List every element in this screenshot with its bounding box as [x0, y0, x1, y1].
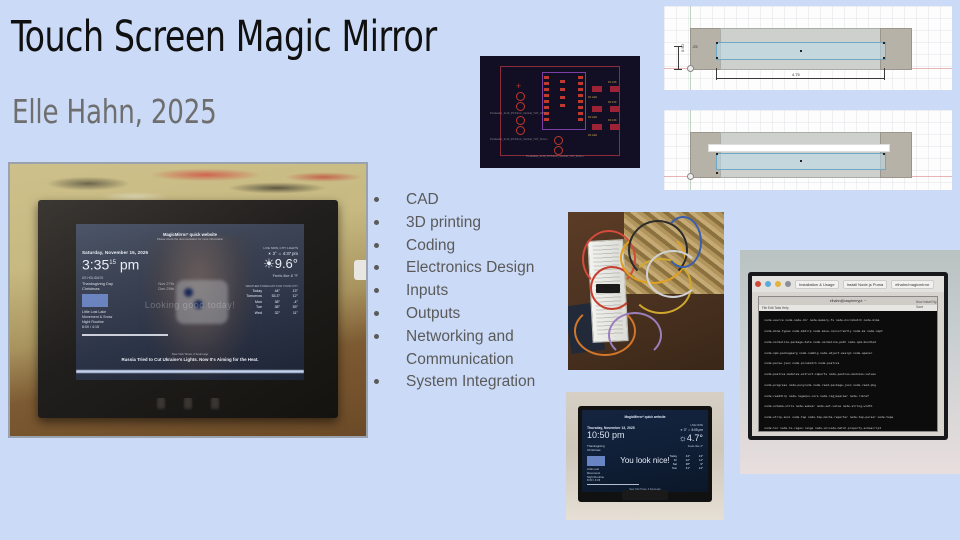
cad-sketch-point — [800, 50, 802, 52]
pcb-pad — [578, 76, 583, 79]
mm-task-list: Little Lost Movement Night Routine 8:00 … — [587, 468, 631, 483]
raspberry-pi-terminal-photo: Installation & Usage Install Node.js Pum… — [740, 250, 960, 474]
mm-clock: 3:3515 pm — [82, 256, 139, 272]
raspberry-menu-icon[interactable] — [755, 281, 761, 287]
pcb-pad — [578, 88, 583, 91]
pcb-led — [610, 106, 620, 112]
mm-clock-meridiem: pm — [612, 430, 625, 440]
mm-divider — [587, 484, 639, 485]
pcb-pad — [544, 76, 549, 79]
mm-calendar-header: US HOLIDAYS — [82, 276, 103, 280]
mm-forecast: Today44°13° Fri42°11° Sat38°9° Sun41°14° — [664, 454, 703, 470]
list-item: 8:00 / 4:15 — [82, 325, 152, 330]
bullet-dot-icon — [374, 197, 379, 202]
pcb-via — [516, 92, 525, 101]
monitor-stand — [622, 490, 668, 500]
magic-mirror-monitor-photo: MagicMirror² quick website Thursday, Nov… — [566, 392, 724, 520]
mm-weather-city: LIVE NOW — [690, 424, 703, 427]
monitor-screen: MagicMirror² quick website Thursday, Nov… — [582, 410, 708, 492]
mm-forecast-header: WEATHER FORECAST FOR YOUR CITY — [246, 284, 298, 288]
pcb-pad — [578, 94, 583, 97]
terminal-line: node-schema-utils node-semver node-set-v… — [761, 405, 935, 409]
list-item: 8:00 / 4:15 — [587, 479, 631, 483]
cad-sketch-point — [800, 160, 802, 162]
monitor-bezel: MagicMirror² quick website Thursday, Nov… — [578, 406, 712, 502]
bullet-label: Outputs — [406, 303, 574, 326]
screen-glare — [76, 370, 304, 373]
mm-weather-city: LIVE NOW, CITY LIGHTS — [263, 246, 298, 250]
terminal-icon[interactable] — [785, 281, 791, 287]
mm-divider — [82, 334, 168, 336]
browser-side-panel: Now install Ng Save — [916, 300, 942, 432]
mm-clock-time: 3:35 — [82, 257, 109, 273]
cad-extension-line — [884, 68, 885, 80]
mm-temperature: ☀9.6° — [263, 257, 298, 271]
jumper-wire-blue — [664, 216, 702, 268]
mm-calendar-row: Christmas — [587, 448, 639, 452]
cad-sketch-point — [883, 153, 885, 155]
list-item: CAD — [374, 189, 574, 212]
bullet-label: Coding — [406, 235, 574, 258]
terminal-line: node-readdirp node-regenpu-core node-reg… — [761, 395, 935, 399]
pcb-silkscreen-label: PinHeader_2x10_P2.54mm_Vertical_THT_3Con… — [526, 155, 583, 158]
presentation-slide: Touch Screen Magic Mirror Elle Hahn, 202… — [0, 0, 960, 540]
bullet-label: Inputs — [406, 280, 574, 303]
mirror-button-row — [157, 398, 220, 412]
mirror-button — [184, 398, 193, 412]
power-plug — [354, 260, 368, 280]
bullet-dot-icon — [374, 220, 379, 225]
pcb-part-label: R3 10K — [608, 119, 617, 122]
bullet-label: System Integration — [406, 371, 574, 394]
mm-forecast: Today44°13° Tomorrow53.3°12° Mon38°-4° T… — [243, 289, 298, 316]
bullet-label: Networking and Communication — [406, 326, 574, 372]
terminal-line: node-mime-types node-mkdirp node-move-co… — [761, 330, 935, 334]
mm-feels-like: Feels like 2° — [688, 444, 703, 448]
mm-clock-seconds: 15 — [109, 260, 116, 266]
mm-temperature: ☼4.7° — [679, 433, 703, 443]
pcb-part-label: D3 LED — [588, 134, 597, 137]
mm-feels-like: Feels like 8 °F — [273, 273, 298, 278]
pcb-via — [554, 146, 563, 155]
list-item: Inputs — [374, 280, 574, 303]
folder-icon[interactable] — [775, 281, 781, 287]
globe-icon[interactable] — [765, 281, 771, 287]
mm-temperature-value: 9.6° — [275, 256, 298, 271]
bullet-dot-icon — [374, 311, 379, 316]
mm-calendar: Thanksgiving DayNov 27th ChristmasDec 25… — [82, 281, 174, 291]
cad-white-panel — [708, 144, 890, 152]
mirror-button — [211, 398, 220, 412]
terminal-output: node-source node-node-dir node-memory-fs… — [759, 311, 937, 436]
pcb-silkscreen-label: PinHeader_2x10_P2.54mm_Vertical_THT_2Con… — [490, 138, 547, 141]
cad-dimension-value: .25 — [692, 44, 698, 49]
mm-clock-time: 10:50 — [587, 430, 610, 440]
pcb-pad — [560, 88, 565, 91]
terminal-line: node-postcss-modules-extract-imports nod… — [761, 373, 935, 377]
cad-sketch-point — [716, 57, 718, 59]
mm-news-source: New York Times, 2 hours ago — [76, 352, 304, 356]
mm-calendar: Thanksgiving Christmas — [587, 444, 639, 452]
mm-forecast-low: 11° — [283, 311, 298, 316]
pcb-pad — [544, 82, 549, 85]
terminal-line: node-tar node-to-regex-range node-unicod… — [761, 427, 935, 431]
pcb-silkscreen-label: PinHeader_2x10_P2.54mm_Vertical_THT_10Pi… — [490, 112, 546, 115]
terminal-line: node-normalize-package-data node-normali… — [761, 341, 935, 345]
install-button[interactable]: Save — [916, 305, 942, 310]
bullet-dot-icon — [374, 334, 379, 339]
bullet-dot-icon — [374, 288, 379, 293]
cad-dimension-value: 0.50 — [680, 44, 685, 52]
mm-forecast-day: Sun — [666, 466, 677, 470]
terminal-line: node-strip-ansi node-tap node-tap-mocha-… — [761, 416, 935, 420]
list-item: Networking and Communication — [374, 326, 574, 372]
magic-mirror-assembled-photo: MagicMirror² quick website Please check … — [8, 162, 368, 438]
fusion360-sketch-front-view: 4.75 0.50 .25 — [664, 6, 952, 90]
fusion360-sketch-section-view — [664, 110, 952, 190]
cad-dimension-line — [674, 69, 682, 70]
mm-sunset: 5:05 pm — [691, 428, 703, 432]
mm-sunrise: 3° — [684, 428, 687, 432]
pcb-pad — [544, 118, 549, 121]
mm-module-header: MagicMirror² quick website — [582, 415, 708, 419]
list-item: Coding — [374, 235, 574, 258]
pcb-resistor — [592, 124, 602, 130]
cad-sketch-point — [716, 42, 718, 44]
pcb-pad — [544, 88, 549, 91]
list-item: 3D printing — [374, 212, 574, 235]
breadboard-wiring-photo — [568, 212, 724, 370]
mm-clock-meridiem: pm — [120, 257, 139, 273]
cad-sketch-point — [883, 57, 885, 59]
terminal-line: node-progress node-punycode node-read-pa… — [761, 384, 935, 388]
pcb-via — [516, 102, 525, 111]
mirror-wooden-frame: MagicMirror² quick website Please check … — [38, 200, 338, 418]
mm-temperature-value: 4.7° — [687, 433, 703, 443]
pcb-pad — [578, 118, 583, 121]
terminal-line: node-parse-json node-picomatch node-post… — [761, 362, 935, 366]
terminal-window[interactable]: elhahn@raspberrypi: ~ File Edit Tabs Hel… — [758, 296, 938, 432]
mm-task-list: Little Lost Lake Movement & Snow Night R… — [82, 310, 152, 330]
camera-lens-icon — [184, 288, 193, 297]
bullet-label: CAD — [406, 189, 574, 212]
pcb-pad — [578, 82, 583, 85]
mm-calendar-when: Dec 25th — [158, 286, 174, 291]
browser-tab-bar[interactable]: Installation & Usage Install Node.js Pum… — [752, 276, 944, 292]
laptop-screen: Installation & Usage Install Node.js Pum… — [752, 276, 944, 436]
bullet-dot-icon — [374, 265, 379, 270]
mm-calendar-row: ChristmasDec 25th — [82, 286, 174, 291]
bullet-dot-icon — [374, 243, 379, 248]
bullet-label: 3D printing — [406, 212, 574, 235]
pcb-pad — [544, 100, 549, 103]
kicad-pcb-layout: + PinHeader_2x10_P2.54mm_Vertica — [480, 56, 640, 168]
mm-forecast-row: Wed32°11° — [243, 311, 298, 316]
pcb-resistor — [592, 106, 602, 112]
mm-sun-times: ☀ 3° ☼ 5:05 pm — [680, 428, 703, 432]
cad-dimension-value: 4.75 — [792, 72, 800, 77]
pcb-led — [610, 86, 620, 92]
pcb-led — [610, 124, 620, 130]
mm-forecast-low: 14° — [692, 466, 703, 470]
pcb-pad — [560, 96, 565, 99]
pcb-pad — [560, 104, 565, 107]
cad-origin-point — [687, 65, 694, 72]
terminal-line: node-source node-node-dir node-memory-fs… — [761, 319, 935, 323]
pcb-resistor — [592, 86, 602, 92]
cad-extension-line — [716, 68, 717, 80]
terminal-title-bar: elhahn@raspberrypi: ~ — [759, 297, 937, 305]
browser-tab[interactable]: Installation & Usage — [795, 280, 839, 289]
pcb-part-label: D2 LED — [588, 116, 597, 119]
mm-forecast-high: 41° — [679, 466, 690, 470]
pcb-pad — [544, 106, 549, 109]
browser-tab[interactable]: Install Node.js Puma — [843, 280, 888, 289]
mm-forecast-row: Sun41°14° — [664, 466, 703, 470]
mm-forecast-day: Wed — [247, 311, 262, 316]
mm-date: Saturday, November 15, 2025 — [82, 250, 148, 255]
pcb-part-label: R2 10K — [608, 101, 617, 104]
pcb-pad — [578, 100, 583, 103]
jumper-wire-purple — [608, 312, 662, 358]
pcb-part-label: D1 LED — [588, 96, 597, 99]
cad-sketch-point — [716, 172, 718, 174]
mm-news-headline: Russia Tried to Cut Ukraine's Lights. No… — [76, 357, 304, 362]
cad-sketch-point — [883, 42, 885, 44]
pcb-via — [516, 116, 525, 125]
mm-module-subheader: Please check the documentation for more … — [76, 237, 304, 241]
pcb-pad — [578, 106, 583, 109]
pcb-via — [516, 126, 525, 135]
pcb-origin-marker: + — [516, 82, 521, 91]
mirror-display-screen: MagicMirror² quick website Please check … — [76, 224, 304, 380]
cad-origin-point — [687, 173, 694, 180]
laptop-bezel: Installation & Usage Install Node.js Pum… — [748, 272, 948, 440]
bullet-dot-icon — [374, 379, 379, 384]
pcb-pad — [544, 94, 549, 97]
cad-extension-line — [678, 46, 679, 70]
pcb-via — [554, 136, 563, 145]
pcb-pad — [578, 112, 583, 115]
mm-calendar-event: Christmas — [82, 286, 100, 291]
mm-forecast-high: 32° — [265, 311, 280, 316]
pcb-part-label: R1 10K — [608, 81, 617, 84]
terminal-line: node-npm-packagearg node-numbig node-obj… — [761, 352, 935, 356]
browser-tab[interactable]: elhahn/magicmirror — [891, 280, 933, 289]
feature-bullet-list: CAD 3D printing Coding Electronics Desig… — [374, 189, 574, 394]
list-item: Electronics Design — [374, 257, 574, 280]
pcb-pad — [560, 80, 565, 83]
slide-subtitle: Elle Hahn, 2025 — [12, 92, 217, 132]
slide-title: Touch Screen Magic Mirror — [11, 12, 437, 62]
bullet-label: Electronics Design — [406, 257, 574, 280]
list-item: Outputs — [374, 303, 574, 326]
cad-dimension-line — [716, 78, 884, 79]
mm-clock: 10:50 pm — [587, 430, 625, 440]
list-item: System Integration — [374, 371, 574, 394]
cad-sketch-point — [716, 153, 718, 155]
mirror-button — [157, 398, 166, 412]
